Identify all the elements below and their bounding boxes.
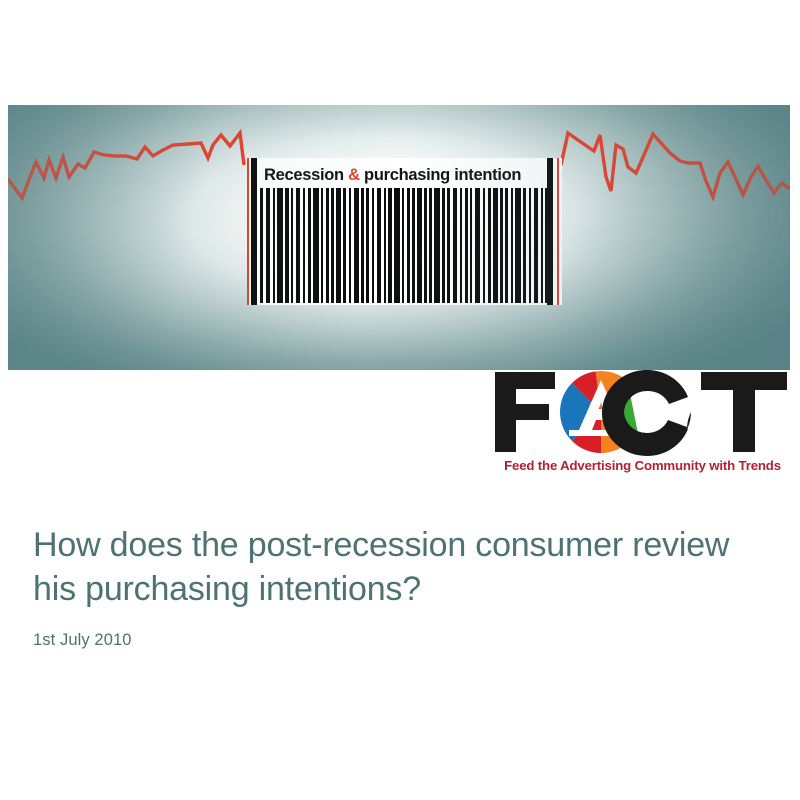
barcode-bar [285,188,288,303]
barcode-bar [488,188,491,303]
barcode-bar [336,188,341,303]
barcode-bar [326,188,329,303]
barcode-bar [505,188,508,303]
barcode-right-red-edge-bar [557,158,559,305]
barcode-bar [313,188,319,303]
barcode-caption-suffix: purchasing intention [360,166,521,184]
barcode-bar [541,188,543,303]
barcode-bar [331,188,333,303]
barcode-bar [511,188,513,303]
barcode-bar [377,188,382,303]
barcode-bar [453,188,458,303]
page-date: 1st July 2010 [33,611,763,651]
declining-trend-left [8,133,244,198]
barcode-bar [260,188,263,303]
barcode-bar [424,188,426,303]
barcode-bar [308,188,311,303]
barcode-bar [417,188,422,303]
barcode-bar [429,188,432,303]
barcode-bar [372,188,374,303]
hero-banner: Recession & purchasing intention [8,105,790,370]
barcode-bar [500,188,502,303]
barcode-caption-ampersand: & [348,166,360,184]
declining-trend-right [561,133,790,197]
barcode-bar [366,188,369,303]
barcode-bar [515,188,521,303]
barcode-right-guard-bar [547,158,553,305]
barcode-bar [465,188,468,303]
fact-wordmark [491,368,791,456]
barcode-bar [470,188,472,303]
barcode-bar [321,188,323,303]
barcode-bar [354,188,360,303]
barcode-bar [534,188,539,303]
barcode-bar [523,188,526,303]
barcode-caption: Recession & purchasing intention [264,163,546,188]
barcode-bar [442,188,444,303]
barcode-bars [260,188,551,303]
barcode-left-red-edge-bar [247,158,249,305]
barcode-bar [434,188,440,303]
fact-tagline: Feed the Advertising Community with Tren… [494,457,791,474]
fact-letter-c [602,370,691,456]
barcode-caption-prefix: Recession [264,166,348,184]
barcode-graphic: Recession & purchasing intention [247,158,562,305]
barcode-bar [407,188,410,303]
barcode-bar [493,188,498,303]
barcode-bar [475,188,481,303]
barcode-bar [447,188,450,303]
barcode-bar [266,188,271,303]
barcode-bar [277,188,283,303]
barcode-bar [296,188,301,303]
barcode-left-guard-bar [251,158,257,305]
barcode-bar [384,188,386,303]
fact-logo: Feed the Advertising Community with Tren… [491,368,791,480]
barcode-bar [303,188,305,303]
barcode-bar [412,188,414,303]
barcode-bar [349,188,351,303]
barcode-bar [388,188,391,303]
barcode-bar [291,188,293,303]
fact-letter-f [495,372,555,452]
title-block: How does the post-recession consumer rev… [33,523,763,651]
barcode-bar [402,188,404,303]
barcode-bar [273,188,275,303]
barcode-bar [361,188,363,303]
page-title: How does the post-recession consumer rev… [33,523,763,611]
barcode-bar [460,188,462,303]
barcode-bar [529,188,531,303]
fact-letter-t [701,372,787,452]
barcode-bar [343,188,346,303]
barcode-bar [483,188,485,303]
barcode-bar [394,188,400,303]
